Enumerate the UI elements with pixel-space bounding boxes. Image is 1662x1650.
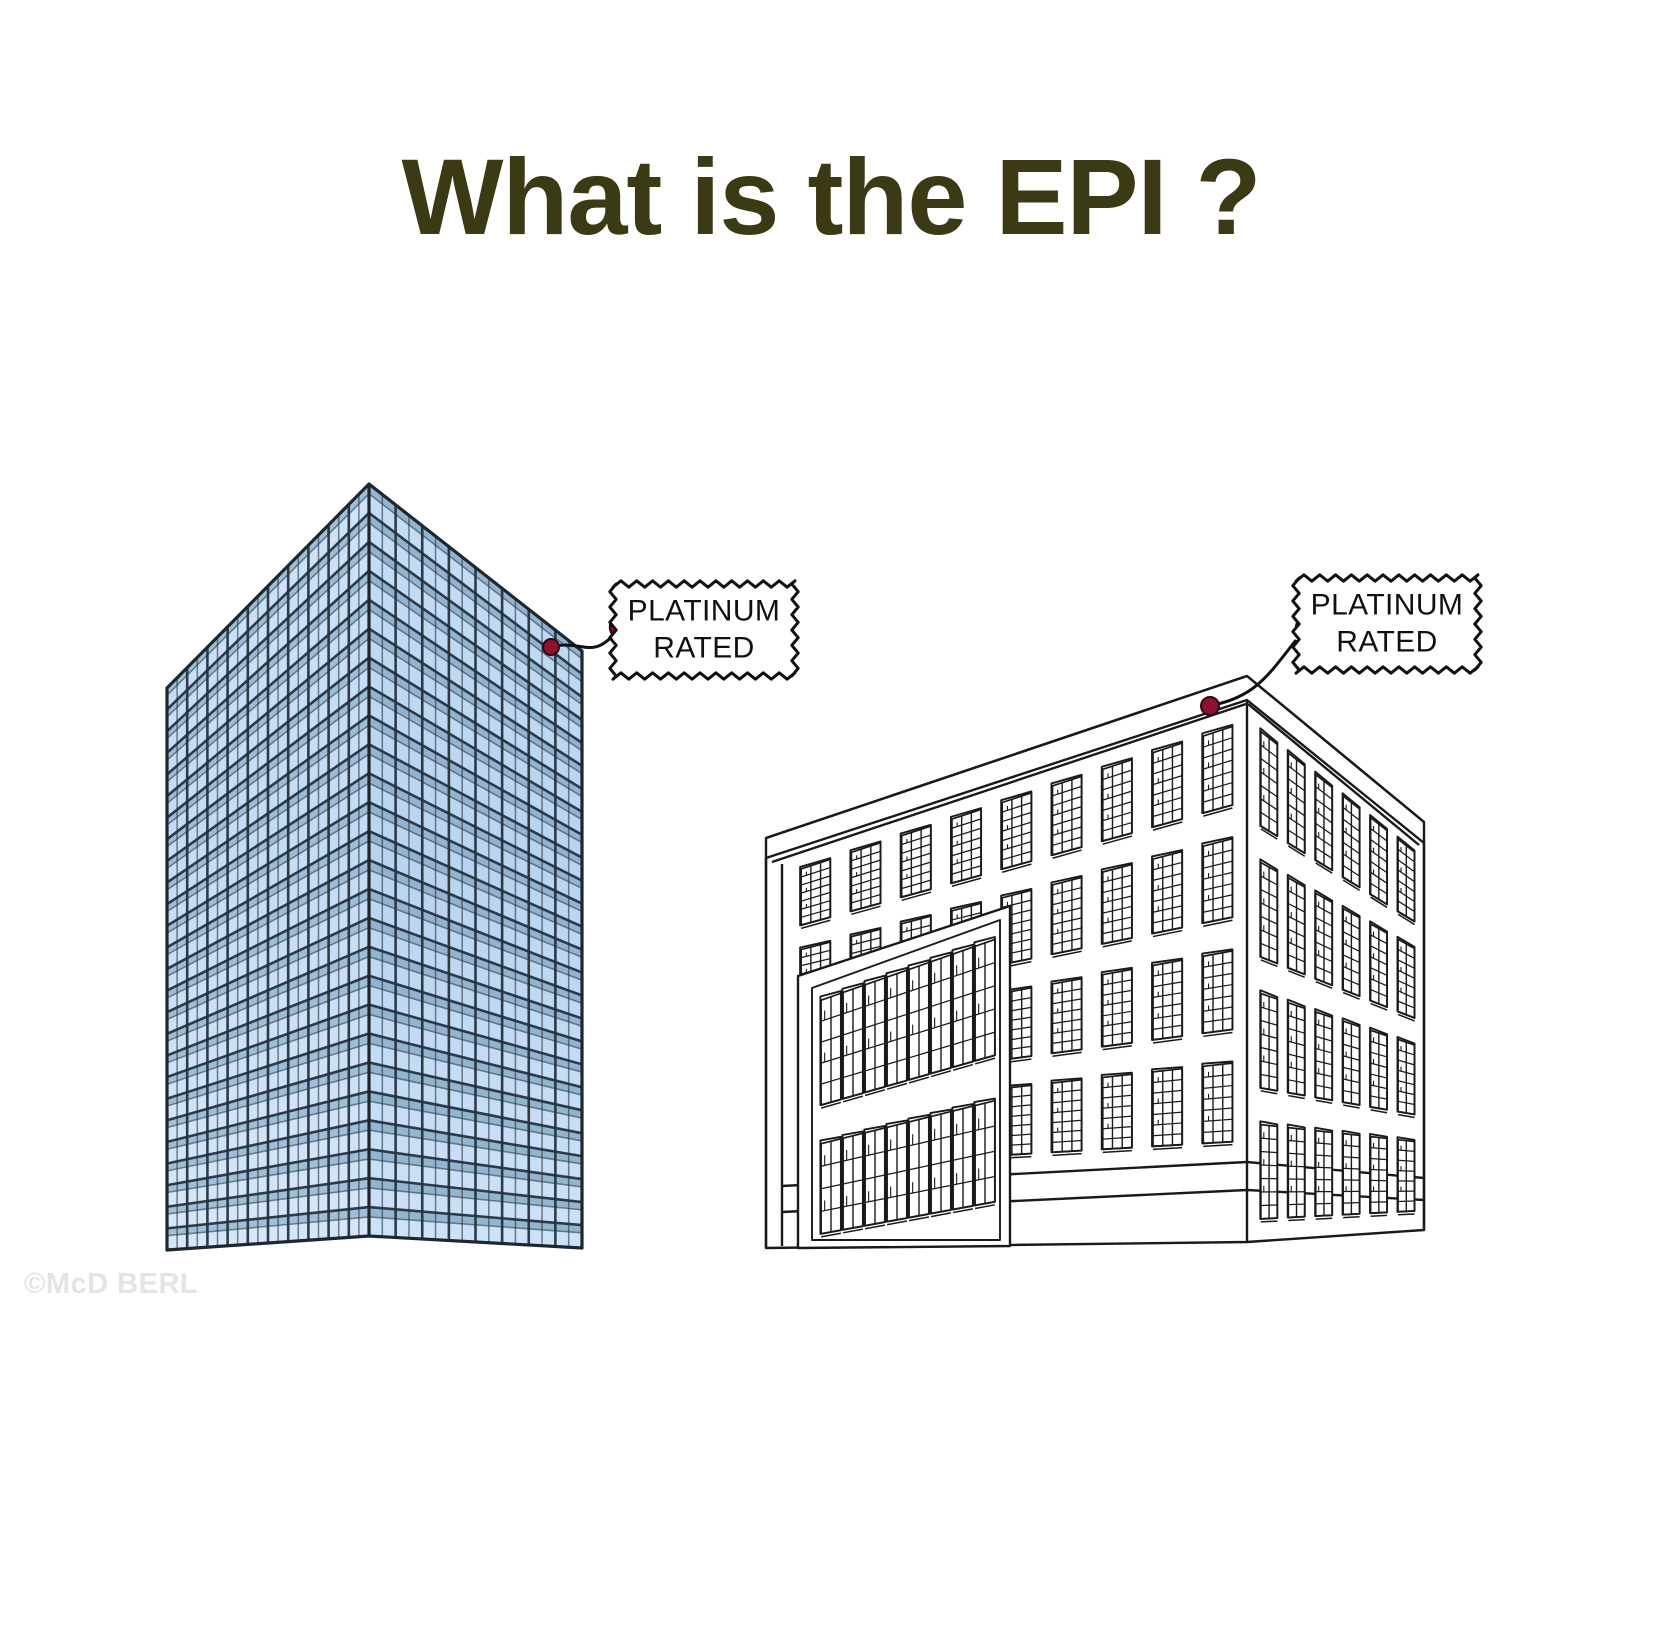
classic-block-illustration xyxy=(766,676,1424,1248)
leader-anchor-dot-right xyxy=(1201,697,1219,715)
watermark: ©McD BERL xyxy=(24,1268,198,1301)
callout-left-line2: RATED xyxy=(613,630,795,667)
glass-tower-illustration xyxy=(167,484,582,1250)
callout-left-line1: PLATINUM xyxy=(628,594,781,627)
slide-canvas: What is the EPI ? xyxy=(0,0,1662,1650)
leader-anchor-dot-left xyxy=(543,639,559,655)
callout-right-line2: RATED xyxy=(1296,624,1478,661)
platinum-rated-badge-right[interactable]: PLATINUM RATED xyxy=(1296,578,1478,670)
platinum-rated-badge-left[interactable]: PLATINUM RATED xyxy=(613,584,795,676)
callout-right-line1: PLATINUM xyxy=(1311,588,1464,621)
page-title: What is the EPI ? xyxy=(0,140,1662,253)
